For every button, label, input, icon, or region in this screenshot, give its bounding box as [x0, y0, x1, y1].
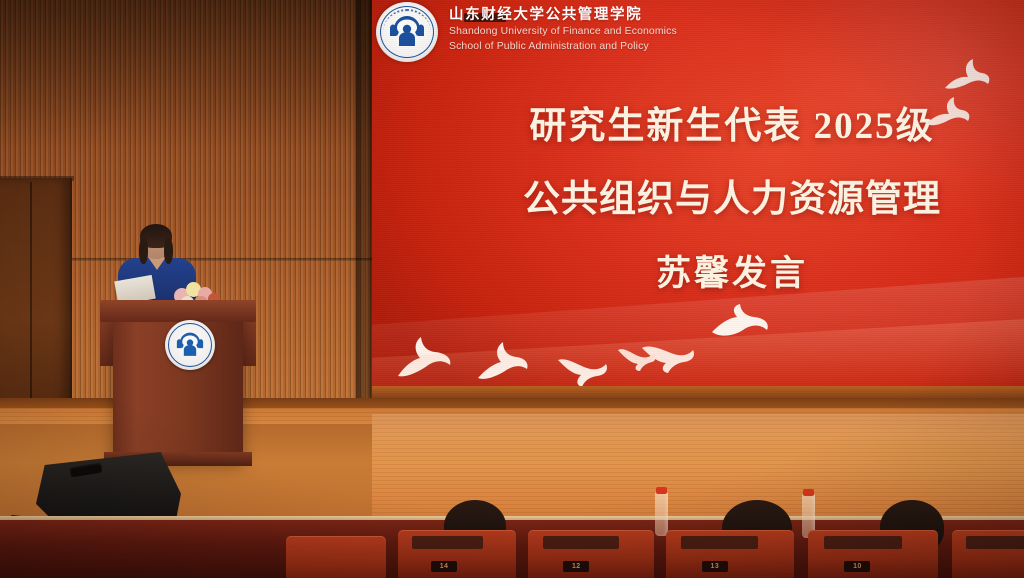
audience-seat[interactable] [952, 530, 1024, 578]
auditorium-photo: 山东财经大学公共管理学院 Shandong University of Fina… [0, 0, 1024, 578]
school-name-cn: 山东财经大学公共管理学院 [449, 7, 677, 23]
audience-seat[interactable]: 12 [528, 530, 654, 578]
audience-seat[interactable] [286, 536, 386, 578]
water-bottle-cap [803, 489, 814, 496]
podium-top-surface [100, 300, 256, 322]
audience-section: 想 14 12 13 10 [0, 520, 1024, 578]
audience-seat[interactable]: 14 [398, 530, 516, 578]
stage-floor-reflection [372, 414, 1024, 456]
school-name-en: Shandong University of Finance and Econo… [449, 25, 677, 54]
speaker-hair-left [139, 238, 148, 264]
school-name-en-line1: Shandong University of Finance and Econo… [449, 25, 677, 39]
screen-title-block: 研究生新生代表 2025级 公共组织与人力资源管理 苏馨发言 [452, 108, 1012, 291]
audience-seat[interactable]: 13 [666, 530, 794, 578]
led-backdrop-screen: 山东财经大学公共管理学院 Shandong University of Fina… [372, 0, 1024, 408]
school-name-block: 山东财经大学公共管理学院 Shandong University of Fina… [449, 2, 677, 54]
seat-number-plate: 14 [431, 561, 457, 572]
seat-headrest-pad [681, 536, 758, 549]
seat-number-plate: 12 [563, 561, 589, 572]
seat-number-plate: 13 [702, 561, 728, 572]
seat-headrest-pad [543, 536, 619, 549]
title-line-2: 公共组织与人力资源管理 [452, 181, 1012, 218]
school-name-en-line2: School of Public Administration and Poli… [449, 40, 677, 54]
title-line-1: 研究生新生代表 2025级 [452, 108, 1012, 145]
audience-seat[interactable]: 10 [808, 530, 938, 578]
speaker-hair-right [164, 238, 173, 264]
seat-number-plate: 10 [844, 561, 870, 572]
podium-university-seal-icon [165, 320, 215, 370]
seat-headrest-pad [824, 536, 902, 549]
water-bottle-cap [656, 487, 667, 494]
door-split-line [30, 182, 32, 434]
wall-top-shadow [0, 0, 372, 150]
seat-headrest-pad [412, 536, 483, 549]
screen-header: 山东财经大学公共管理学院 Shandong University of Fina… [376, 2, 677, 62]
university-seal-icon [376, 2, 438, 62]
water-bottle [655, 492, 668, 536]
seat-headrest-pad [966, 536, 1024, 549]
